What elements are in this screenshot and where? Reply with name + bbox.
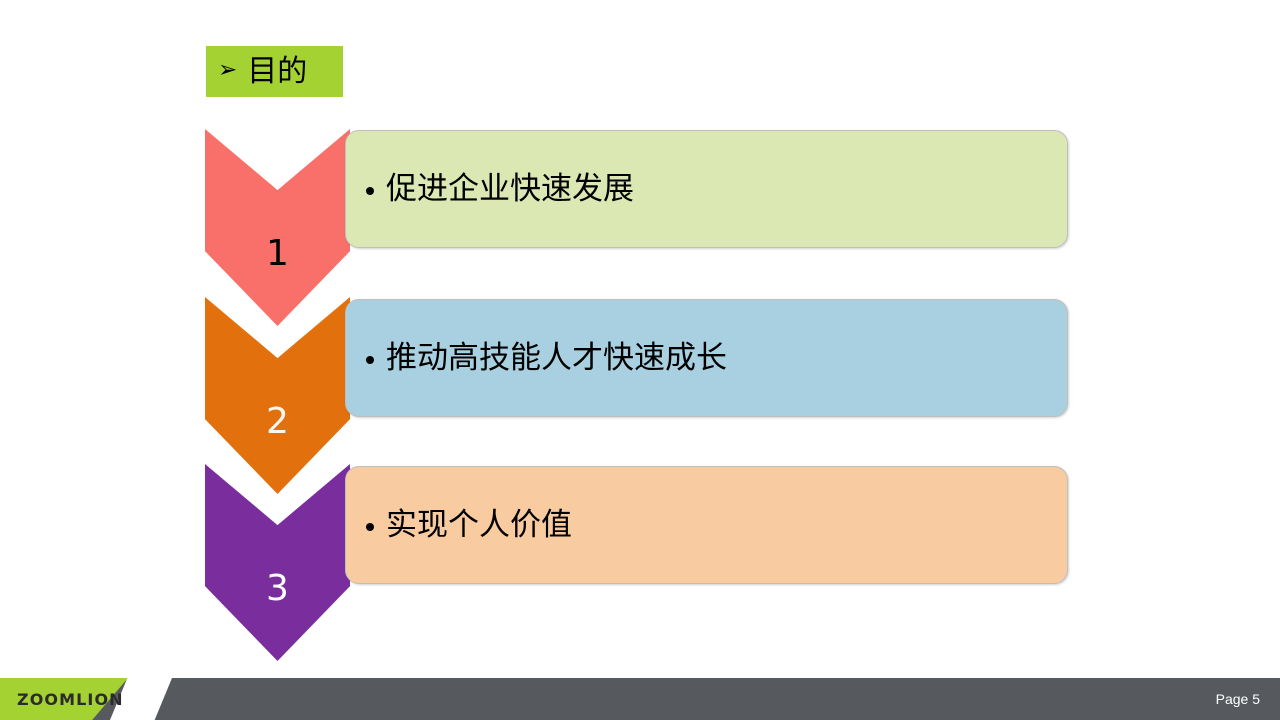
- content-box-2: 推动高技能人才快速成长: [345, 299, 1068, 417]
- content-text-2: 推动高技能人才快速成长: [386, 341, 727, 375]
- chevron-number-1: 1: [205, 236, 350, 272]
- slide-canvas: ➢ 目的 1 促进企业快速发展 2 推动高技能人才快速成长 3: [0, 0, 1280, 720]
- bullet-row-2: 推动高技能人才快速成长: [346, 341, 727, 375]
- slide-title-banner: ➢ 目的: [206, 46, 343, 97]
- page-title: 目的: [247, 57, 307, 87]
- arrow-bullet-icon: ➢: [218, 59, 237, 82]
- bullet-row-3: 实现个人价值: [346, 508, 572, 542]
- chevron-number-2: 2: [205, 404, 350, 440]
- content-box-3: 实现个人价值: [345, 466, 1068, 584]
- slide-footer: ZOOMLION Page 5: [0, 678, 1280, 720]
- content-text-3: 实现个人价值: [386, 508, 572, 542]
- chevron-shape-1: 1: [205, 129, 350, 326]
- content-box-1: 促进企业快速发展: [345, 130, 1068, 248]
- bullet-dot-icon: [366, 187, 374, 195]
- bullet-row-1: 促进企业快速发展: [346, 172, 634, 206]
- bullet-dot-icon: [366, 356, 374, 364]
- page-number: Page 5: [1216, 691, 1260, 707]
- content-text-1: 促进企业快速发展: [386, 172, 634, 206]
- bullet-dot-icon: [366, 523, 374, 531]
- chevron-shape-2: 2: [205, 297, 350, 494]
- zoomlion-logo: ZOOMLION: [17, 690, 124, 709]
- chevron-number-3: 3: [205, 571, 350, 607]
